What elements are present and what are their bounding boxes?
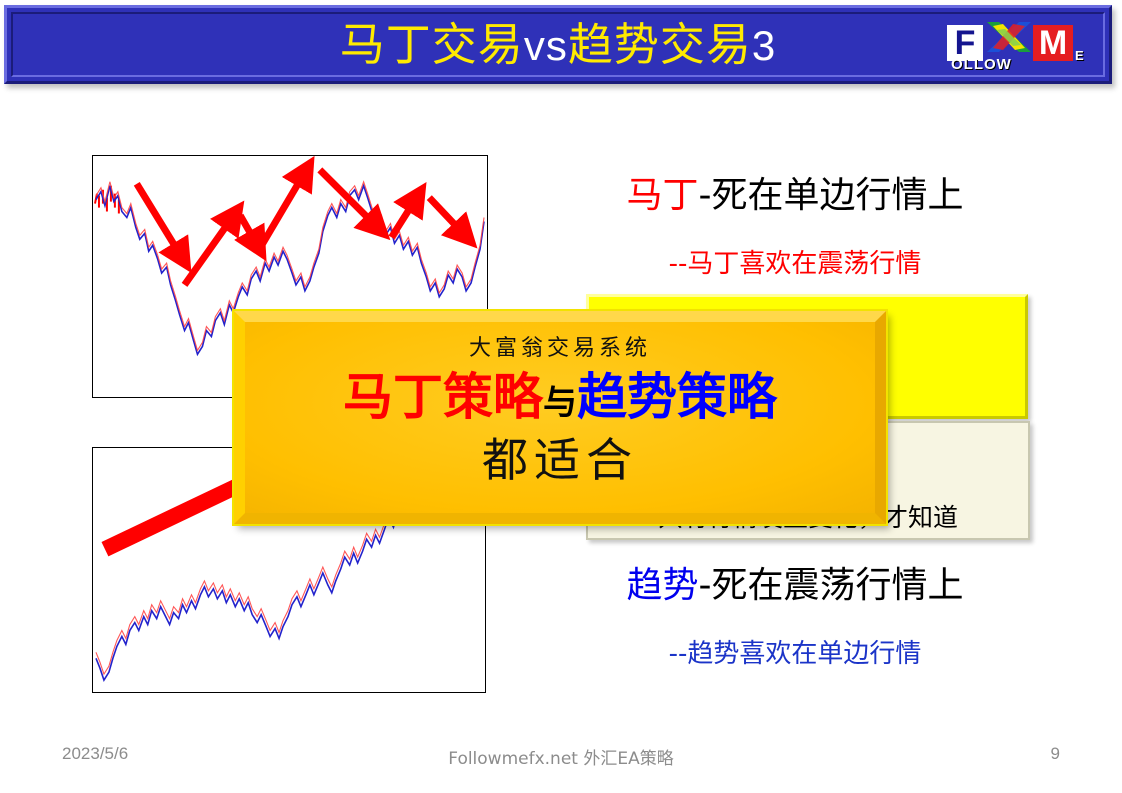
overlay-main-title: 马丁策略与趋势策略 [245, 366, 875, 434]
title-part-martin: 马丁交易 [340, 18, 524, 71]
title-part-vs: vs [524, 22, 568, 69]
overlay-subtitle: 大富翁交易系统 [245, 334, 875, 364]
overlay-callout-box: 大富翁交易系统 马丁策略与趋势策略 都适合 [234, 311, 886, 524]
logo-word-ollow: OLLOW [951, 56, 1012, 73]
overlay-main-mid: 与 [543, 383, 577, 423]
slide-title-bar: 马丁交易vs趋势交易3 F M OLLOW E [4, 5, 1112, 84]
overlay-footer-text: 都适合 [245, 430, 875, 490]
logo-letter-m-icon: M [1033, 25, 1073, 61]
martin-heading-rest: -死在单边行情上 [699, 175, 964, 216]
martin-heading: 马丁-死在单边行情上 [560, 172, 1030, 220]
logo-x-icon [983, 20, 1035, 56]
footer-center-text: Followmefx.net 外汇EA策略 [0, 744, 1122, 769]
followme-logo: F M OLLOW E [947, 22, 1095, 78]
page-title: 马丁交易vs趋势交易3 [7, 16, 1109, 75]
overlay-main-red: 马丁策略 [343, 368, 543, 426]
logo-letter-e-icon: E [1075, 48, 1084, 63]
trend-subtext: --趋势喜欢在单边行情 [560, 636, 1030, 672]
martin-subtext: --马丁喜欢在震荡行情 [560, 246, 1030, 282]
trend-heading: 趋势-死在震荡行情上 [560, 562, 1030, 610]
slide-canvas: 马丁交易vs趋势交易3 F M OLLOW E [0, 0, 1122, 793]
title-part-number: 3 [752, 22, 776, 69]
title-part-trend: 趋势交易 [568, 18, 752, 71]
trend-heading-rest: -死在震荡行情上 [699, 565, 964, 606]
overlay-main-blue: 趋势策略 [577, 368, 777, 426]
trend-heading-highlight: 趋势 [626, 565, 698, 606]
footer-page-number: 9 [1051, 744, 1060, 764]
martin-heading-highlight: 马丁 [626, 175, 698, 216]
